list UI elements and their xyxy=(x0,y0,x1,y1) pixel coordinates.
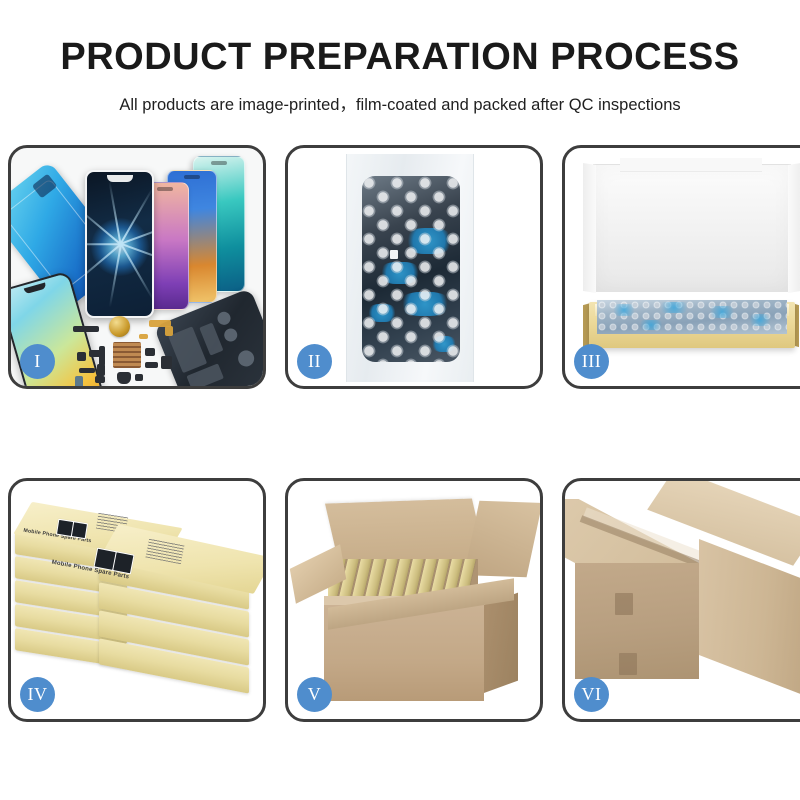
blue-highlight xyxy=(611,304,637,316)
process-step-2[interactable]: II xyxy=(285,145,543,389)
spare-parts-cluster xyxy=(73,316,213,386)
bubble-wrap-sleeve xyxy=(346,154,474,382)
page-title: PRODUCT PREPARATION PROCESS xyxy=(0,38,800,78)
label-tag xyxy=(390,250,398,259)
blue-highlight xyxy=(657,302,691,313)
small-part xyxy=(145,348,155,356)
step-badge-4: IV xyxy=(20,677,55,712)
small-part xyxy=(161,356,172,369)
small-part xyxy=(79,368,95,373)
carton-tab xyxy=(615,593,633,615)
process-step-3[interactable]: III xyxy=(562,145,800,389)
small-part xyxy=(95,376,105,383)
step-badge-3: III xyxy=(574,344,609,379)
flex-cable xyxy=(139,334,148,339)
wrapped-screen-unit xyxy=(362,176,460,362)
burst-ray xyxy=(85,243,120,245)
small-part xyxy=(73,326,99,332)
step-badge-6: VI xyxy=(574,677,609,712)
flex-cable xyxy=(165,326,173,336)
blue-highlight xyxy=(637,320,665,330)
speaker-ring xyxy=(236,348,257,369)
copper-grid-part xyxy=(113,342,141,368)
blue-highlight xyxy=(747,314,773,326)
carton-front-face xyxy=(575,563,699,679)
dark-screen-assembly xyxy=(85,170,154,318)
small-part xyxy=(77,352,86,361)
process-step-6[interactable]: VI xyxy=(562,478,800,722)
carton-side-face xyxy=(484,593,518,693)
wrapped-contents xyxy=(597,300,787,334)
page-header: PRODUCT PREPARATION PROCESS All products… xyxy=(0,0,800,115)
camera-ring xyxy=(216,310,233,327)
small-part xyxy=(75,376,83,386)
process-step-5[interactable]: V xyxy=(285,478,543,722)
blue-highlight xyxy=(707,306,737,318)
camera-ring xyxy=(222,327,239,344)
white-box-lid xyxy=(593,164,791,292)
step-badge-1: I xyxy=(20,344,55,379)
step-badge-5: V xyxy=(297,677,332,712)
small-part xyxy=(117,372,131,384)
gold-coil-part xyxy=(109,316,130,337)
small-part xyxy=(135,374,143,381)
bubble-highlights xyxy=(362,176,460,362)
process-step-grid: I II xyxy=(8,145,792,722)
lid-tab xyxy=(620,158,762,172)
process-step-1[interactable]: I xyxy=(8,145,266,389)
small-part xyxy=(99,346,105,366)
page-subtitle: All products are image-printed，film-coat… xyxy=(0,91,800,115)
process-step-4[interactable]: Mobile Phone Spare Parts Mobile Phone Sp… xyxy=(8,478,266,722)
retail-box-stack: Mobile Phone Spare Parts Mobile Phone Sp… xyxy=(15,507,263,707)
step-badge-2: II xyxy=(297,344,332,379)
small-part xyxy=(145,362,158,368)
carton-tab xyxy=(619,653,637,675)
